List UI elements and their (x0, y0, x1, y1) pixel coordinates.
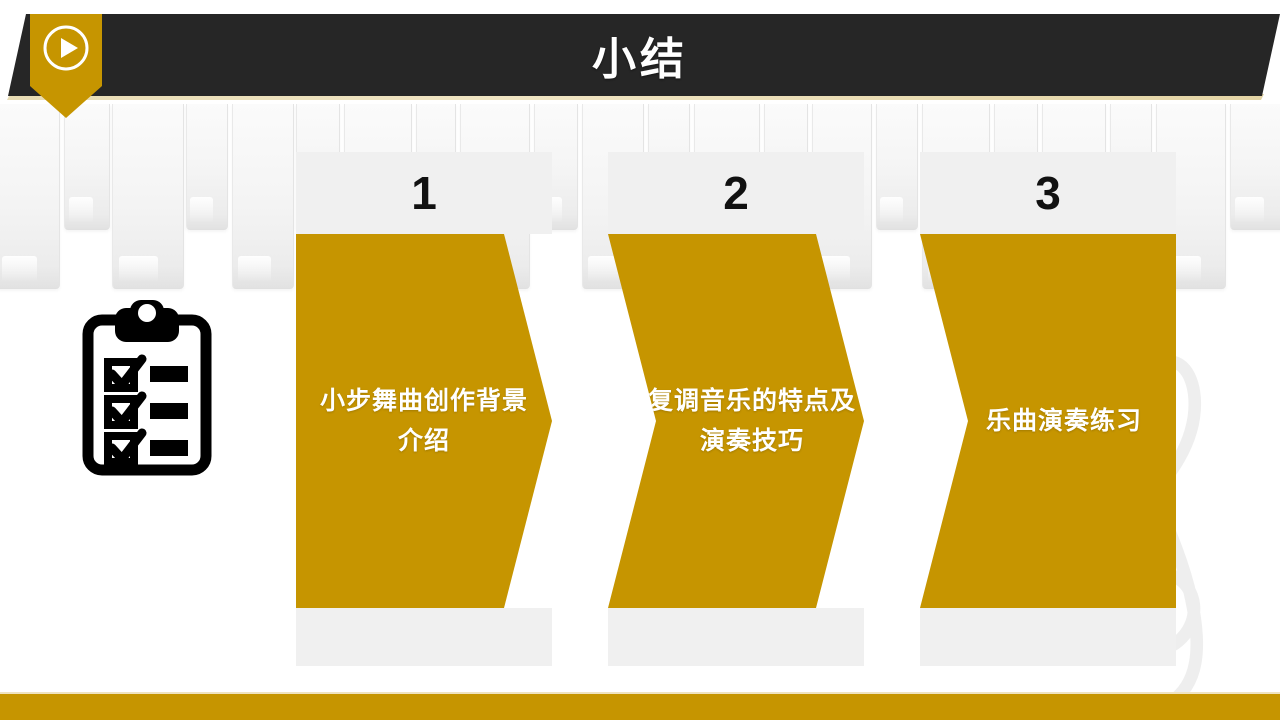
footer-bar (0, 694, 1280, 720)
process-step-3[interactable]: 3 乐曲演奏练习 (920, 152, 1176, 666)
step-number-strip: 1 (296, 152, 552, 234)
step-number: 2 (723, 170, 749, 216)
step-label: 乐曲演奏练习 (986, 401, 1142, 442)
step-number: 1 (411, 170, 437, 216)
step-number: 3 (1035, 170, 1061, 216)
step-body[interactable]: 复调音乐的特点及演奏技巧 (608, 234, 864, 608)
step-body[interactable]: 小步舞曲创作背景介绍 (296, 234, 552, 608)
step-label: 复调音乐的特点及演奏技巧 (646, 381, 858, 462)
clipboard-checklist-icon (82, 300, 212, 476)
step-footer-strip (608, 608, 864, 666)
step-body[interactable]: 乐曲演奏练习 (920, 234, 1176, 608)
step-number-strip: 2 (608, 152, 864, 234)
process-step-2[interactable]: 2 复调音乐的特点及演奏技巧 (608, 152, 864, 666)
process-step-1[interactable]: 1 小步舞曲创作背景介绍 (296, 152, 552, 666)
slide-canvas: 小结 1 (0, 0, 1280, 720)
step-number-strip: 3 (920, 152, 1176, 234)
step-label: 小步舞曲创作背景介绍 (318, 381, 530, 462)
step-footer-strip (296, 608, 552, 666)
step-footer-strip (920, 608, 1176, 666)
play-icon[interactable] (40, 22, 92, 74)
page-title: 小结 (0, 14, 1280, 96)
